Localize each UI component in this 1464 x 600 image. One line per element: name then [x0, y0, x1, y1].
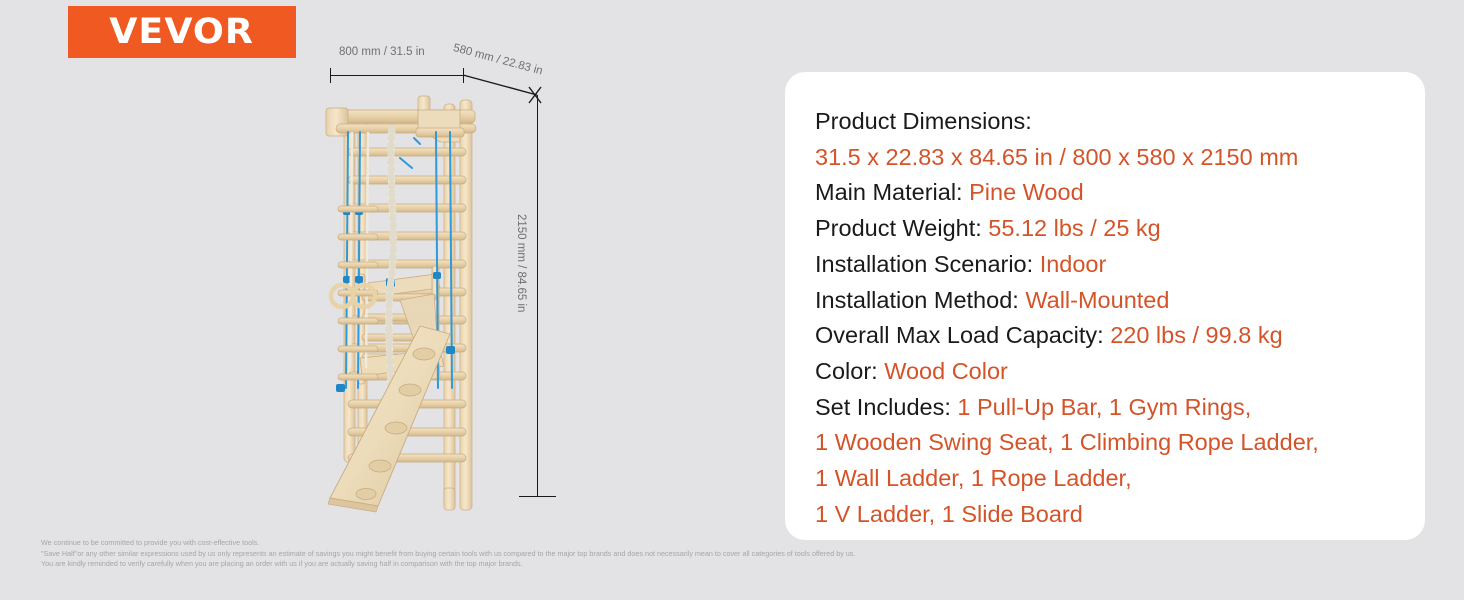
spec-value: 1 Pull-Up Bar, 1 Gym Rings,	[957, 394, 1251, 420]
set-includes-line-3: 1 Wall Ladder, 1 Rope Ladder,	[815, 461, 1425, 497]
spec-value: 31.5 x 22.83 x 84.65 in / 800 x 580 x 21…	[815, 144, 1298, 170]
spec-row-main-material: Main Material: Pine Wood	[815, 175, 1425, 211]
spec-row-set-includes: Set Includes: 1 Pull-Up Bar, 1 Gym Rings…	[815, 390, 1425, 426]
disclaimer-text: We continue to be committed to provide y…	[41, 538, 1081, 570]
spec-row-installation-scenario: Installation Scenario: Indoor	[815, 247, 1425, 283]
spec-value: Wall-Mounted	[1025, 287, 1169, 313]
width-dimension-label: 800 mm / 31.5 in	[339, 46, 425, 58]
spec-label: Installation Method:	[815, 287, 1019, 313]
disclaimer-line-3: You are kindly reminded to verify carefu…	[41, 559, 1081, 570]
spec-row-installation-method: Installation Method: Wall-Mounted	[815, 283, 1425, 319]
width-dimension-cap-left	[330, 68, 331, 83]
spec-label: Main Material:	[815, 179, 963, 205]
product-spec-card: Product Dimensions: 31.5 x 22.83 x 84.65…	[785, 72, 1425, 540]
spec-value: Wood Color	[884, 358, 1008, 384]
spec-value: Pine Wood	[969, 179, 1084, 205]
vevor-logo: VEVOR	[68, 6, 296, 58]
logo-text: VEVOR	[110, 12, 255, 52]
width-dimension-line	[330, 75, 464, 76]
spec-row-product-dimensions-value: 31.5 x 22.83 x 84.65 in / 800 x 580 x 21…	[815, 140, 1425, 176]
spec-label: Overall Max Load Capacity:	[815, 322, 1104, 348]
spec-row-product-dimensions-label: Product Dimensions:	[815, 104, 1425, 140]
spec-label: Product Dimensions:	[815, 108, 1032, 134]
spec-row-color: Color: Wood Color	[815, 354, 1425, 390]
disclaimer-line-1: We continue to be committed to provide y…	[41, 538, 1081, 549]
spec-label: Set Includes:	[815, 394, 951, 420]
spec-row-product-weight: Product Weight: 55.12 lbs / 25 kg	[815, 211, 1425, 247]
set-includes-line-2: 1 Wooden Swing Seat, 1 Climbing Rope Lad…	[815, 425, 1425, 461]
spec-label: Color:	[815, 358, 878, 384]
spec-value: 220 lbs / 99.8 kg	[1110, 322, 1282, 348]
set-includes-line-4: 1 V Ladder, 1 Slide Board	[815, 497, 1425, 533]
page-root: VEVOR 800 mm / 31.5 in 580 mm / 22.83 in…	[0, 0, 1464, 600]
spec-label: Installation Scenario:	[815, 251, 1033, 277]
spec-value: Indoor	[1040, 251, 1107, 277]
spec-label: Product Weight:	[815, 215, 982, 241]
product-image	[300, 88, 550, 518]
disclaimer-line-2: "Save Half"or any other similar expressi…	[41, 549, 1081, 560]
spec-row-max-load-capacity: Overall Max Load Capacity: 220 lbs / 99.…	[815, 318, 1425, 354]
spec-value: 55.12 lbs / 25 kg	[988, 215, 1160, 241]
